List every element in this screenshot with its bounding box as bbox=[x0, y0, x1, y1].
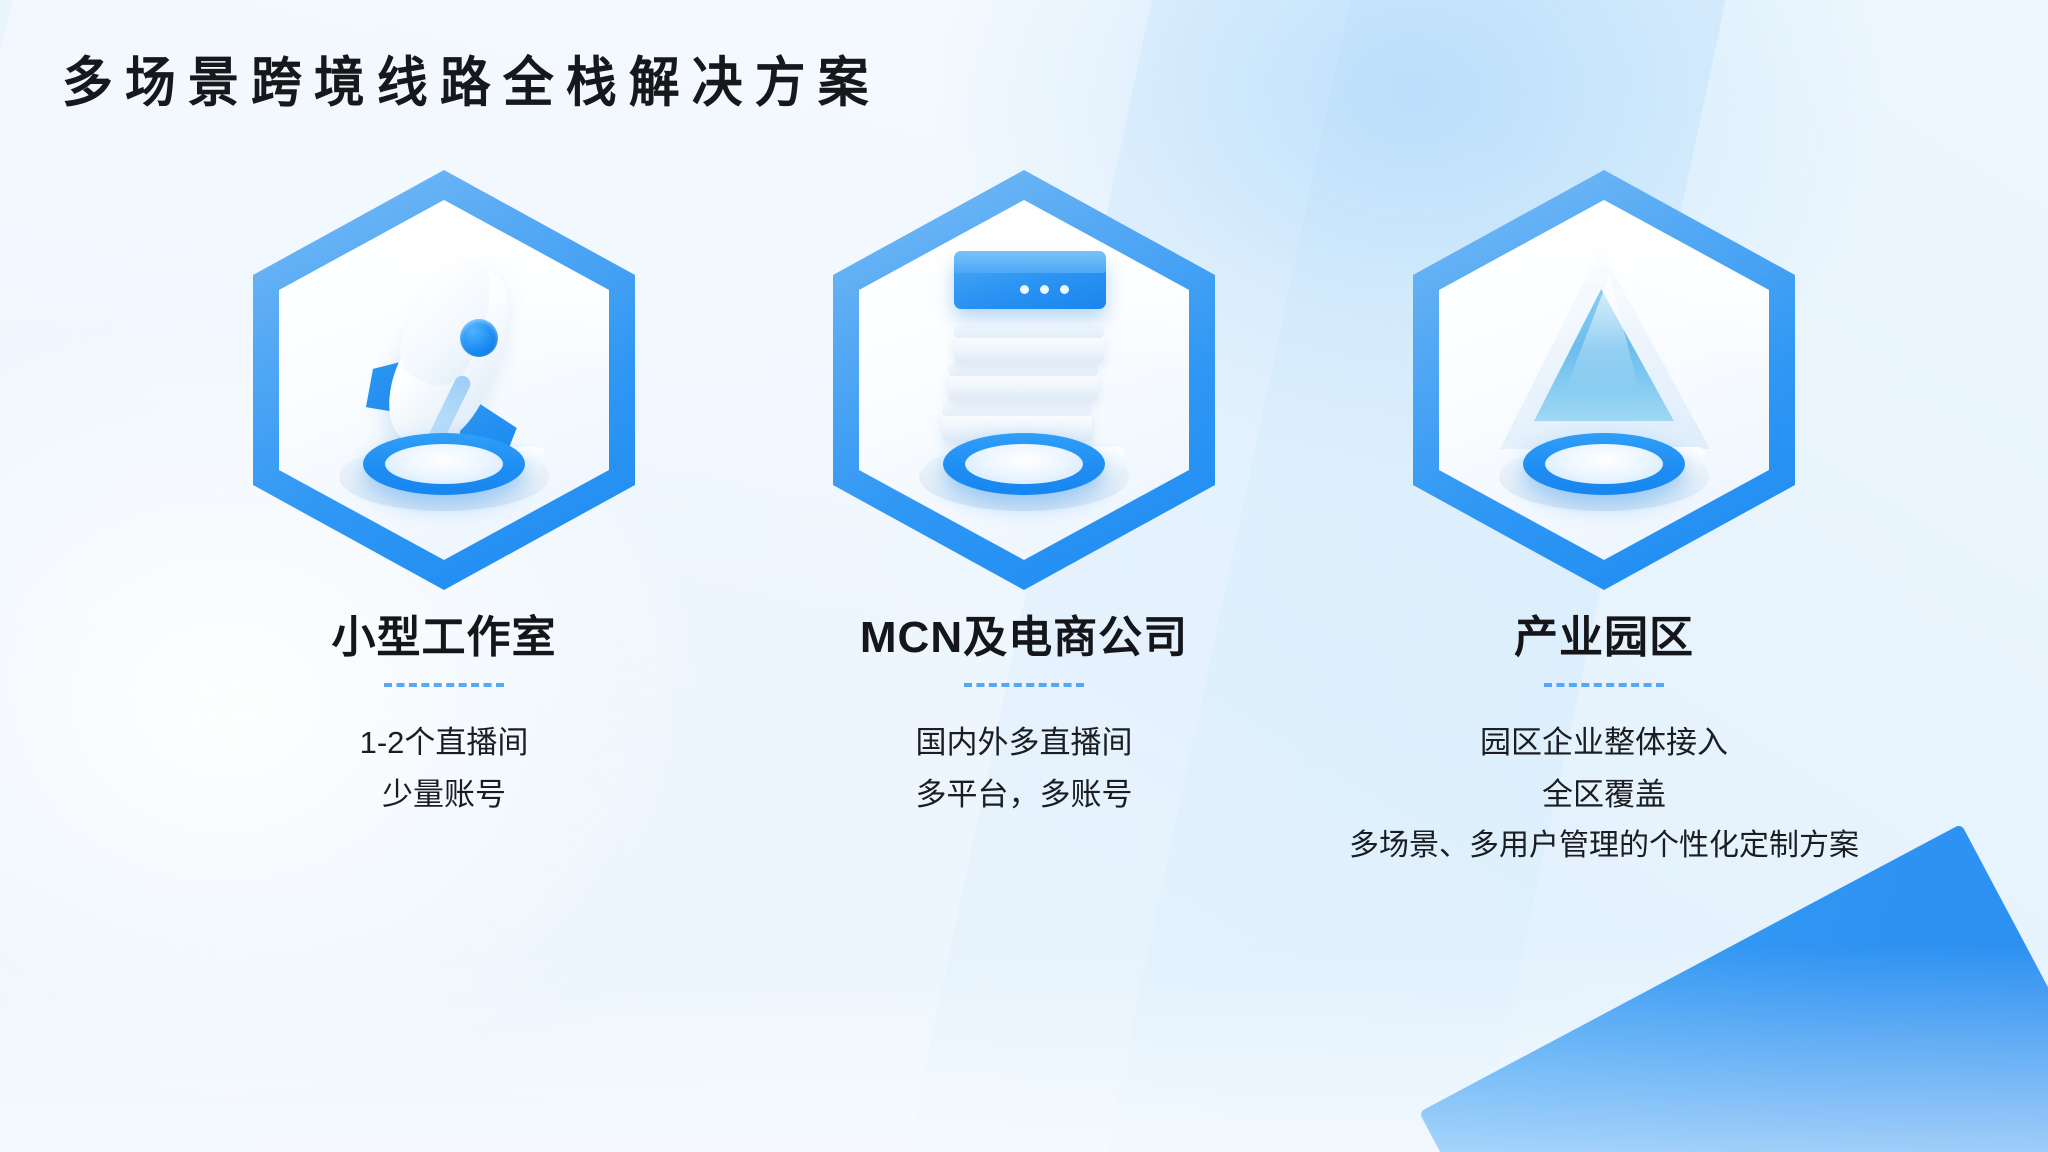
card-line: 多平台，多账号 bbox=[916, 769, 1133, 821]
pedestal-ring-hole bbox=[1545, 444, 1663, 484]
card-description: 1-2个直播间 少量账号 bbox=[360, 717, 529, 821]
corner-wedge-blue bbox=[1419, 823, 2048, 1152]
card-description: 国内外多直播间 多平台，多账号 bbox=[916, 717, 1133, 821]
card-line: 国内外多直播间 bbox=[916, 717, 1133, 769]
solution-cards-row: 小型工作室 1-2个直播间 少量账号 bbox=[0, 170, 2048, 871]
card-line: 少量账号 bbox=[360, 769, 529, 821]
server-status-dot bbox=[1020, 285, 1029, 294]
background-bottom-fade bbox=[0, 945, 2048, 1152]
rocket-window-icon bbox=[460, 319, 498, 357]
card-title: 产业园区 bbox=[1514, 612, 1694, 665]
server-top-face bbox=[954, 251, 1106, 273]
card-title: MCN及电商公司 bbox=[860, 612, 1188, 665]
pedestal-ring-hole bbox=[965, 444, 1083, 484]
poster-stage: 多场景跨境线路全栈解决方案 bbox=[0, 0, 2048, 1152]
server-stack-icon bbox=[894, 245, 1154, 515]
hexagon-badge bbox=[833, 170, 1215, 590]
server-layer-edge bbox=[954, 325, 1104, 338]
hexagon-badge bbox=[253, 170, 635, 590]
server-layer-edge bbox=[942, 403, 1092, 416]
card-description: 园区企业整体接入 全区覆盖 多场景、多用户管理的个性化定制方案 bbox=[1349, 717, 1859, 872]
solution-card-industrial-park[interactable]: 产业园区 园区企业整体接入 全区覆盖 多场景、多用户管理的个性化定制方案 bbox=[1344, 170, 1864, 871]
card-divider bbox=[1544, 683, 1664, 687]
pedestal-ring-hole bbox=[385, 444, 503, 484]
card-divider bbox=[384, 683, 504, 687]
card-line: 全区覆盖 bbox=[1349, 769, 1859, 821]
card-line: 园区企业整体接入 bbox=[1349, 717, 1859, 769]
card-title: 小型工作室 bbox=[332, 612, 557, 665]
hexagon-badge bbox=[1413, 170, 1795, 590]
pyramid-icon bbox=[1474, 245, 1734, 515]
page-title: 多场景跨境线路全栈解决方案 bbox=[62, 52, 881, 114]
pedestal-ring bbox=[1499, 427, 1709, 513]
solution-card-small-studio[interactable]: 小型工作室 1-2个直播间 少量账号 bbox=[184, 170, 704, 821]
rocket-icon bbox=[314, 245, 574, 515]
pedestal-ring bbox=[919, 427, 1129, 513]
server-layer-edge bbox=[948, 363, 1098, 376]
card-line: 1-2个直播间 bbox=[360, 717, 529, 769]
pedestal-ring bbox=[339, 427, 549, 513]
server-status-dot bbox=[1060, 285, 1069, 294]
server-status-dot bbox=[1040, 285, 1049, 294]
card-line: 多场景、多用户管理的个性化定制方案 bbox=[1349, 821, 1859, 871]
card-divider bbox=[964, 683, 1084, 687]
corner-wedge-light bbox=[1599, 998, 2048, 1152]
solution-card-mcn-ecommerce[interactable]: MCN及电商公司 国内外多直播间 多平台，多账号 bbox=[764, 170, 1284, 821]
